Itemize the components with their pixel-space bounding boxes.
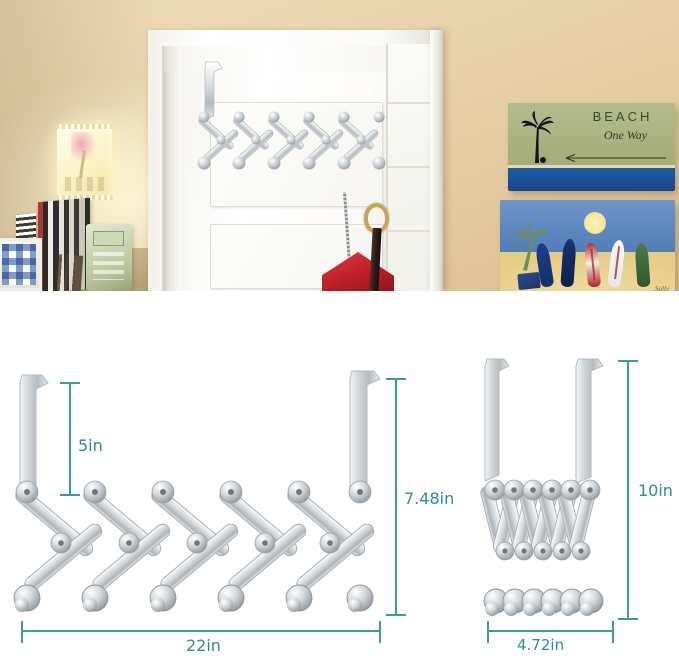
door-edge [164,72,170,291]
lamp-shade [57,126,112,198]
title-band: ADIUSTABLE DESIGN [0,291,679,353]
beach-sign-top: BEACH One Way [508,103,675,191]
lamp-shade-top-trim [56,124,113,129]
picture-frame-image [2,244,36,285]
dimension-label-collapsed-width: 4.72in [515,636,566,654]
cordless-phone [86,224,132,291]
picture-frame [0,238,42,291]
dimension-label-collapsed-height: 10in [636,481,675,500]
dimension-diagrams: 5in 7.48in 22in 10in 4.72in [0,353,679,667]
door-hook-arm-right [576,359,603,483]
palm-tree-icon [520,111,556,167]
beach-sign-subtext: One Way [582,128,669,143]
phone-screen [93,231,124,246]
door-hook-arm-left [20,375,48,491]
dimension-label-total-width: 22in [184,636,223,655]
door-frame-right-jamb [430,30,443,291]
extended-hanger-diagram [13,371,406,643]
door-hook-arm-left [485,359,509,481]
bottom-hook-knobs [14,585,373,612]
surfboard-stripe [614,246,620,279]
rack-top-joints [199,112,385,123]
pens-holder [57,254,83,291]
surfboard-stripe [590,249,595,280]
product-lifestyle-photo: BEACH One Way [0,0,679,291]
middle-joints [496,542,590,560]
beach-chair-icon [517,272,541,290]
beach-sign-sea [508,165,675,191]
door-hook-arm-right [350,371,380,492]
installed-accordion-rack [190,60,402,210]
collapsed-hanger-diagram [479,359,638,643]
dimension-label-arm-height: 5in [76,436,105,455]
rack-middle-joints [216,135,365,144]
surfboards-art-bottom: Sally [500,200,675,291]
dimension-line-10in [618,361,638,619]
phone-keypad [93,252,124,280]
rack-door-hook-arm [205,62,222,119]
left-arrow-icon [564,149,668,157]
sun-icon [584,212,606,234]
sidelight-mullion [388,230,430,232]
lamp-shade-script-print [65,177,106,191]
beach-sign-heading: BEACH [578,109,667,124]
dimension-label-total-height: 7.48in [402,489,456,508]
bottom-hook-knobs [484,589,603,616]
rack-hook-knobs [198,157,386,170]
